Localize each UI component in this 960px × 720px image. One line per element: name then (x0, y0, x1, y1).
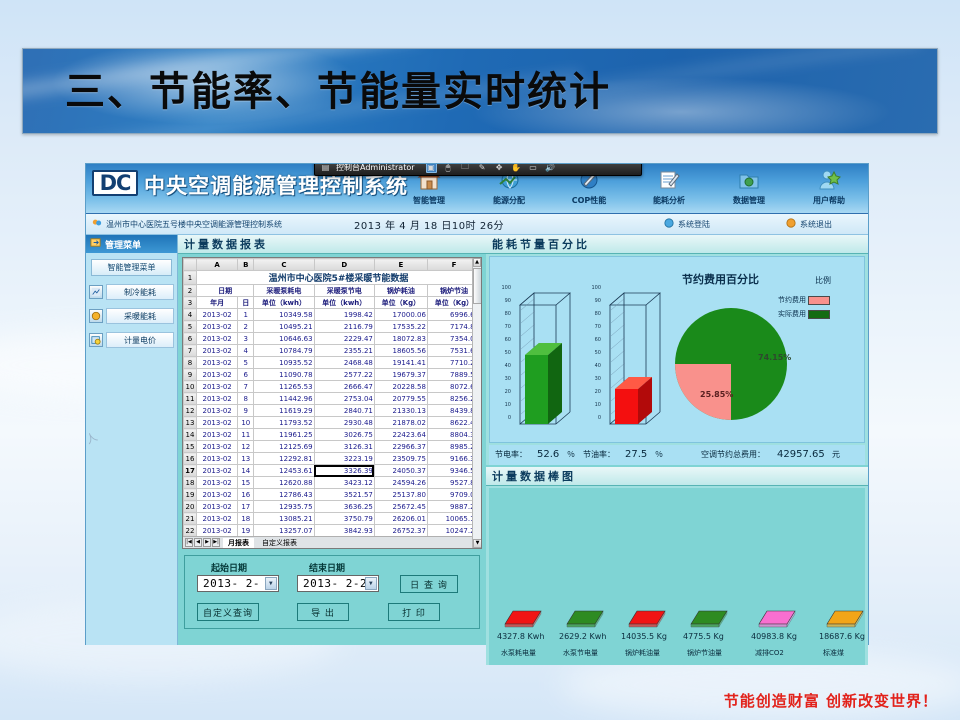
metering-bar-item: 18687.6 Kg标准煤 (819, 606, 869, 632)
cell-pump-consumption[interactable]: 12620.88 (254, 477, 314, 489)
end-date-input[interactable]: 2013- 2-28 ▼ (297, 575, 379, 592)
cell-pump-saving[interactable]: 3750.79 (314, 513, 374, 525)
row-header[interactable]: 7 (184, 345, 197, 357)
nav-label: 能耗分析 (638, 195, 700, 206)
cell-day[interactable]: 13 (238, 453, 254, 465)
next-sheet-icon[interactable]: ▶ (203, 538, 211, 547)
table-row: 162013-021312292.813223.1923509.759166.3… (184, 453, 481, 465)
window-icon[interactable]: ▭ (528, 164, 539, 173)
nav-label: 数据管理 (718, 195, 780, 206)
user-icon (798, 166, 860, 194)
percentage-annotations: 节电率： 52.6 ％ 节油率： 27.5 ％ 空调节约总费用： 42957.6… (489, 445, 865, 465)
cell-year-month[interactable]: 2013-02 (197, 417, 238, 429)
balloon-icon (92, 218, 102, 230)
row-header[interactable]: 22 (184, 525, 197, 537)
metering-bar-label: 水泵节电量 (563, 648, 598, 658)
sheet-nav-arrows[interactable]: |◀ ◀ ▶ ▶| (185, 538, 220, 547)
cell-boiler-oil[interactable]: 18072.83 (374, 333, 427, 345)
metering-bar-value: 40983.8 Kg (751, 632, 797, 641)
cell-year-month[interactable]: 2013-02 (197, 405, 238, 417)
metering-bar-value: 14035.5 Kg (621, 632, 667, 641)
nav-label: 用户帮助 (798, 195, 860, 206)
header-cell: 年月 (197, 297, 238, 309)
row-header[interactable]: 9 (184, 369, 197, 381)
end-date-label: 结束日期 (309, 561, 345, 574)
table-row: 1 温州市中心医院5#楼采暖节能数据 (184, 271, 481, 285)
cell-year-month[interactable]: 2013-02 (197, 321, 238, 333)
row-header[interactable]: 15 (184, 441, 197, 453)
row-header[interactable]: 12 (184, 405, 197, 417)
row-header[interactable]: 1 (184, 271, 197, 285)
sidebar-item-label: 采暖能耗 (106, 308, 174, 324)
status-bar: 温州市中心医院五号楼中央空调能源管理控制系统 2013 年 4 月 18 日10… (86, 214, 868, 235)
metering-bar-label: 水泵耗电量 (501, 648, 536, 658)
sheet-tab-monthly[interactable]: 月报表 (223, 538, 254, 548)
metering-bar-label: 锅炉节油量 (687, 648, 722, 658)
cell-year-month[interactable]: 2013-02 (197, 429, 238, 441)
menu-icon (90, 237, 101, 251)
oil-saving-rate-unit: ％ (655, 449, 663, 460)
site-info: 温州市中心医院五号楼中央空调能源管理控制系统 (86, 218, 282, 230)
energy-percentage-chart: 100 90 80 70 60 50 40 30 20 10 0 (489, 256, 865, 443)
cell-boiler-oil[interactable]: 26752.37 (374, 525, 427, 537)
cell-boiler-oil[interactable]: 24050.37 (374, 465, 427, 477)
app-header: DC 中央空调能源管理控制系统 智能管理 能源分配 COP性能 (86, 164, 868, 214)
table-row: 52013-02210495.212116.7917535.227174.84 (184, 321, 481, 333)
cell-pump-saving[interactable]: 2666.47 (314, 381, 374, 393)
day-query-button[interactable]: 日 查 询 (400, 575, 458, 593)
sheet-title: 温州市中心医院5#楼采暖节能数据 (197, 271, 481, 285)
row-header[interactable]: 16 (184, 453, 197, 465)
cell-year-month[interactable]: 2013-02 (197, 441, 238, 453)
table-row: 192013-021612786.433521.5725137.809709.0… (184, 489, 481, 501)
query-controls: 起始日期 结束日期 2013- 2- 1 ▼ 2013- 2-28 ▼ 日 查 … (184, 555, 480, 629)
bar-slab-icon (819, 606, 869, 628)
cell-pump-consumption[interactable]: 13257.07 (254, 525, 314, 537)
cell-pump-saving[interactable]: 1998.42 (314, 309, 374, 321)
metering-bar-value: 4775.5 Kg (683, 632, 724, 641)
power-saving-rate-value: 52.6 (537, 449, 559, 460)
sidebar-item-price[interactable]: 计量电价 (89, 332, 174, 348)
header-cell: 锅炉耗油 (374, 285, 427, 297)
custom-query-button[interactable]: 自定义查询 (197, 603, 259, 621)
console-toolbar[interactable]: ▤ 控制台Administrator ▣ 🖱 🗀 ✎ ✥ ✋ ▭ 🔊 (314, 164, 642, 176)
chevron-down-icon[interactable]: ▼ (265, 577, 277, 590)
app-body: 管理菜单 智能管理菜单 制冷能耗 采暖能耗 计量电价 (86, 235, 868, 645)
row-header[interactable]: 18 (184, 477, 197, 489)
hand-icon[interactable]: ✋ (511, 164, 522, 173)
cell-boiler-oil[interactable]: 17535.22 (374, 321, 427, 333)
bar-slab-icon (497, 606, 547, 628)
table-row: 92013-02611090.782577.2219679.377889.55 (184, 369, 481, 381)
bar-slab-icon (559, 606, 609, 628)
corner-cell[interactable] (184, 259, 197, 271)
cell-boiler-oil[interactable]: 19679.37 (374, 369, 427, 381)
scrollbar-thumb[interactable] (473, 268, 482, 304)
table-row: 172013-021412453.613326.3924050.379346.5… (184, 465, 481, 477)
cell-day[interactable]: 3 (238, 333, 254, 345)
pie-value-saved: 25.85% (700, 390, 733, 399)
cell-year-month[interactable]: 2013-02 (197, 345, 238, 357)
cell-pump-saving[interactable]: 3026.75 (314, 429, 374, 441)
total-saving-value: 42957.65 (777, 449, 825, 460)
table-row: 2 日期 采暖泵耗电 采暖泵节电 锅炉耗油 锅炉节油 (184, 285, 481, 297)
table-row: 132013-021011793.522930.4821878.028622.4… (184, 417, 481, 429)
first-sheet-icon[interactable]: |◀ (185, 538, 193, 547)
cell-day[interactable]: 12 (238, 441, 254, 453)
cell-pump-consumption[interactable]: 10349.58 (254, 309, 314, 321)
nav-label: COP性能 (558, 195, 620, 206)
cell-pump-consumption[interactable]: 12786.43 (254, 489, 314, 501)
login-label: 系统登陆 (678, 219, 710, 230)
header-cell: 单位（Kg） (374, 297, 427, 309)
row-header[interactable]: 10 (184, 381, 197, 393)
cell-day[interactable]: 17 (238, 501, 254, 513)
screen-icon[interactable]: ▣ (426, 164, 437, 173)
site-name: 温州市中心医院五号楼中央空调能源管理控制系统 (106, 219, 282, 230)
column-header[interactable]: D (314, 259, 374, 271)
cell-day[interactable]: 16 (238, 489, 254, 501)
column-header[interactable]: A (197, 259, 238, 271)
table-row: 222013-021913257.073842.9326752.3710247.… (184, 525, 481, 537)
chevron-down-icon[interactable]: ▼ (365, 577, 377, 590)
nav-item-data-management[interactable]: 数据管理 (718, 166, 780, 206)
power-saving-rate-label: 节电率： (495, 449, 527, 460)
cell-pump-consumption[interactable]: 11442.96 (254, 393, 314, 405)
metering-bar-title: 计量数据棒图 (486, 467, 868, 486)
oil-saving-rate-label: 节油率： (583, 449, 615, 460)
report-data-rows: 42013-02110349.581998.4217000.066996.635… (184, 309, 481, 537)
cell-pump-saving[interactable]: 3842.93 (314, 525, 374, 537)
move-icon[interactable]: ✥ (494, 164, 505, 173)
cell-year-month[interactable]: 2013-02 (197, 501, 238, 513)
slide-title-banner: 三、节能率、节能量实时统计 (22, 48, 938, 134)
monitor-icon: ▤ (320, 164, 331, 173)
cell-day[interactable]: 10 (238, 417, 254, 429)
cell-pump-consumption[interactable]: 12453.61 (254, 465, 314, 477)
cell-year-month[interactable]: 2013-02 (197, 513, 238, 525)
cell-day[interactable]: 8 (238, 393, 254, 405)
cell-boiler-oil[interactable]: 21330.13 (374, 405, 427, 417)
metering-bar-item: 14035.5 Kg锅炉耗油量 (621, 606, 671, 632)
cell-year-month[interactable]: 2013-02 (197, 477, 238, 489)
cell-day[interactable]: 14 (238, 465, 254, 477)
cell-boiler-oil[interactable]: 22423.64 (374, 429, 427, 441)
cell-year-month[interactable]: 2013-02 (197, 357, 238, 369)
row-header[interactable]: 6 (184, 333, 197, 345)
cell-pump-saving[interactable]: 3126.31 (314, 441, 374, 453)
metering-bar-block: 计量数据棒图 4327.8 Kwh水泵耗电量2629.2 Kwh水泵节电量140… (486, 467, 868, 665)
cell-pump-saving[interactable]: 2116.79 (314, 321, 374, 333)
folder-icon[interactable]: 🗀 (460, 164, 471, 173)
pie-chart-title: 节约费用百分比 (682, 271, 759, 287)
cell-day[interactable]: 18 (238, 513, 254, 525)
page-title: 三、节能率、节能量实时统计 (23, 49, 937, 134)
metering-bar-item: 40983.8 Kg减排CO2 (751, 606, 801, 632)
metering-bar-label: 减排CO2 (755, 648, 784, 658)
sidebar-submenu-title[interactable]: 智能管理菜单 (91, 259, 172, 276)
cell-pump-consumption[interactable]: 13085.21 (254, 513, 314, 525)
nav-label: 智能管理 (398, 195, 460, 206)
end-date-value: 2013- 2-28 (303, 577, 374, 590)
cell-pump-saving[interactable]: 2577.22 (314, 369, 374, 381)
energy-percentage-block: 能耗节量百分比 100 90 80 70 60 50 40 30 20 10 (486, 235, 868, 465)
energy-percentage-title: 能耗节量百分比 (486, 235, 868, 254)
cell-pump-consumption[interactable]: 11793.52 (254, 417, 314, 429)
console-title: 控制台Administrator (336, 164, 415, 173)
oil-saving-rate-value: 27.5 (625, 449, 647, 460)
heating-icon (89, 309, 103, 323)
metering-bar-item: 4775.5 Kg锅炉节油量 (683, 606, 733, 632)
cell-boiler-oil[interactable]: 23509.75 (374, 453, 427, 465)
sheet-tab-bar: |◀ ◀ ▶ ▶| 月报表 自定义报表 (183, 536, 472, 548)
cell-day[interactable]: 15 (238, 477, 254, 489)
sidebar-item-label: 计量电价 (106, 332, 174, 348)
system-datetime: 2013 年 4 月 18 日10时 26分 (354, 217, 504, 232)
cell-pump-saving[interactable]: 2930.48 (314, 417, 374, 429)
metering-bar-label: 锅炉耗油量 (625, 648, 660, 658)
logout-icon (786, 218, 796, 230)
column-header[interactable]: C (254, 259, 314, 271)
start-date-label: 起始日期 (211, 561, 247, 574)
table-row: 202013-021712935.753636.2525672.459887.2… (184, 501, 481, 513)
sidebar-header-label: 管理菜单 (105, 238, 141, 251)
table-row: 142013-021111961.253026.7522423.648804.3… (184, 429, 481, 441)
header-cell: 单位（kwh） (314, 297, 374, 309)
sidebar: 管理菜单 智能管理菜单 制冷能耗 采暖能耗 计量电价 (86, 235, 178, 645)
table-row: 82013-02510935.522468.4819141.417710.23 (184, 357, 481, 369)
charts-pane: 能耗节量百分比 100 90 80 70 60 50 40 30 20 10 (486, 235, 868, 645)
table-row: 182013-021512620.883423.1224594.269527.8… (184, 477, 481, 489)
nav-item-user-help[interactable]: 用户帮助 (798, 166, 860, 206)
metering-bar-value: 18687.6 Kg (819, 632, 865, 641)
legend-swatch-saved (808, 296, 830, 305)
slide-tagline: 节能创造财富 创新改变世界！ (724, 690, 938, 711)
cell-pump-saving[interactable]: 2355.21 (314, 345, 374, 357)
row-header[interactable]: 17 (184, 465, 197, 477)
cell-year-month[interactable]: 2013-02 (197, 369, 238, 381)
report-table: A B C D E F 1 温州市中心医院5#楼采暖节能数据 2 日期 (183, 258, 481, 537)
row-header[interactable]: 8 (184, 357, 197, 369)
cell-year-month[interactable]: 2013-02 (197, 333, 238, 345)
cell-pump-consumption[interactable]: 10646.63 (254, 333, 314, 345)
table-row: 212013-021813085.213750.7926206.0110065.… (184, 513, 481, 525)
cell-pump-saving[interactable]: 2229.47 (314, 333, 374, 345)
column-header[interactable]: E (374, 259, 427, 271)
cell-pump-saving[interactable]: 3223.19 (314, 453, 374, 465)
table-row: 62013-02310646.632229.4718072.837354.04 (184, 333, 481, 345)
cooling-icon (89, 285, 103, 299)
cell-pump-saving[interactable]: 3326.39 (314, 465, 374, 477)
cell-day[interactable]: 2 (238, 321, 254, 333)
cell-boiler-oil[interactable]: 19141.41 (374, 357, 427, 369)
nav-label: 能源分配 (478, 195, 540, 206)
bar-slab-icon (751, 606, 801, 628)
cell-pump-consumption[interactable]: 12935.75 (254, 501, 314, 513)
cell-year-month[interactable]: 2013-02 (197, 525, 238, 537)
sidebar-item-label: 制冷能耗 (106, 284, 174, 300)
legend-swatch-actual (808, 310, 830, 319)
metering-bar-item: 2629.2 Kwh水泵节电量 (559, 606, 609, 632)
cell-boiler-oil[interactable]: 26206.01 (374, 513, 427, 525)
cell-pump-consumption[interactable]: 11619.29 (254, 405, 314, 417)
legend-item-saved: 节约费用 (778, 295, 830, 305)
header-cell: 日 (238, 297, 254, 309)
header-cell: 日期 (197, 285, 254, 297)
cell-day[interactable]: 6 (238, 369, 254, 381)
metering-bar-label: 标准煤 (823, 648, 844, 658)
table-row: 122013-02911619.292840.7121330.138439.81 (184, 405, 481, 417)
report-panel-title: 计量数据报表 (178, 235, 486, 254)
cell-pump-saving[interactable]: 2840.71 (314, 405, 374, 417)
login-icon (664, 218, 674, 230)
cell-year-month[interactable]: 2013-02 (197, 393, 238, 405)
cell-pump-consumption[interactable]: 11090.78 (254, 369, 314, 381)
cell-pump-consumption[interactable]: 10784.79 (254, 345, 314, 357)
column-header-row: A B C D E F (184, 259, 481, 271)
sidebar-item-heating[interactable]: 采暖能耗 (89, 308, 174, 324)
cell-year-month[interactable]: 2013-02 (197, 381, 238, 393)
sidebar-header: 管理菜单 (86, 235, 177, 253)
cell-day[interactable]: 5 (238, 357, 254, 369)
cell-year-month[interactable]: 2013-02 (197, 309, 238, 321)
cell-day[interactable]: 9 (238, 405, 254, 417)
cell-day[interactable]: 19 (238, 525, 254, 537)
cell-boiler-oil[interactable]: 18605.56 (374, 345, 427, 357)
table-row: 102013-02711265.532666.4720228.588072.62 (184, 381, 481, 393)
row-header[interactable]: 21 (184, 513, 197, 525)
speaker-icon[interactable]: 🔊 (545, 164, 556, 173)
total-saving-unit: 元 (832, 449, 840, 460)
cell-pump-consumption[interactable]: 12125.69 (254, 441, 314, 453)
cell-pump-consumption[interactable]: 10935.52 (254, 357, 314, 369)
logout-label: 系统退出 (800, 219, 832, 230)
column-header[interactable]: B (238, 259, 254, 271)
pie-chart-graphic (672, 305, 790, 423)
sidebar-item-cooling[interactable]: 制冷能耗 (89, 284, 174, 300)
metering-bar-item: 4327.8 Kwh水泵耗电量 (497, 606, 547, 632)
cell-boiler-oil[interactable]: 25672.45 (374, 501, 427, 513)
row-header[interactable]: 20 (184, 501, 197, 513)
cell-boiler-oil[interactable]: 17000.06 (374, 309, 427, 321)
scroll-up-icon[interactable]: ▲ (473, 258, 481, 267)
cell-boiler-oil[interactable]: 24594.26 (374, 477, 427, 489)
cell-pump-saving[interactable]: 2753.04 (314, 393, 374, 405)
sheet-tab-custom[interactable]: 自定义报表 (257, 538, 302, 548)
cell-pump-consumption[interactable]: 12292.81 (254, 453, 314, 465)
metering-bar-value: 2629.2 Kwh (559, 632, 606, 641)
bar-slab-icon (683, 606, 733, 628)
row-header[interactable]: 4 (184, 309, 197, 321)
export-button[interactable]: 导 出 (297, 603, 349, 621)
cell-boiler-oil[interactable]: 21878.02 (374, 417, 427, 429)
cell-pump-saving[interactable]: 3521.57 (314, 489, 374, 501)
application-window: DC 中央空调能源管理控制系统 智能管理 能源分配 COP性能 (85, 163, 869, 645)
cell-boiler-oil[interactable]: 20228.58 (374, 381, 427, 393)
table-row: 42013-02110349.581998.4217000.066996.63 (184, 309, 481, 321)
cell-pump-consumption[interactable]: 11961.25 (254, 429, 314, 441)
cell-pump-consumption[interactable]: 10495.21 (254, 321, 314, 333)
row-header[interactable]: 11 (184, 393, 197, 405)
nav-item-consumption-analysis[interactable]: 能耗分析 (638, 166, 700, 206)
row-header[interactable]: 3 (184, 297, 197, 309)
metering-bar-value: 4327.8 Kwh (497, 632, 544, 641)
price-icon (89, 333, 103, 347)
report-pane: 计量数据报表 A B C D E F 1 温州市中心医院5#楼采暖节能数据 (178, 235, 486, 645)
cell-year-month[interactable]: 2013-02 (197, 465, 238, 477)
cell-day[interactable]: 11 (238, 429, 254, 441)
pen-icon[interactable]: ✎ (477, 164, 488, 173)
total-saving-label: 空调节约总费用： (701, 449, 765, 460)
legend-title: 比例 (815, 275, 831, 286)
spreadsheet[interactable]: A B C D E F 1 温州市中心医院5#楼采暖节能数据 2 日期 (182, 257, 482, 549)
last-sheet-icon[interactable]: ▶| (212, 538, 220, 547)
prev-sheet-icon[interactable]: ◀ (194, 538, 202, 547)
logout-link[interactable]: 系统退出 (786, 218, 832, 230)
row-header[interactable]: 14 (184, 429, 197, 441)
dc-logo: DC (92, 170, 138, 196)
cell-pump-saving[interactable]: 2468.48 (314, 357, 374, 369)
legend-label: 节约费用 (778, 295, 806, 305)
table-row: 72013-02410784.792355.2118605.567531.62 (184, 345, 481, 357)
cell-pump-saving[interactable]: 3636.25 (314, 501, 374, 513)
row-header[interactable]: 2 (184, 285, 197, 297)
table-row: 152013-021212125.693126.3122966.378985.2… (184, 441, 481, 453)
vertical-scrollbar[interactable]: ▲ ▼ (472, 258, 481, 548)
header-cell: 采暖泵节电 (314, 285, 374, 297)
row-header[interactable]: 19 (184, 489, 197, 501)
cell-day[interactable]: 1 (238, 309, 254, 321)
print-button[interactable]: 打 印 (388, 603, 440, 621)
scroll-down-icon[interactable]: ▼ (473, 539, 482, 548)
cell-boiler-oil[interactable]: 22966.37 (374, 441, 427, 453)
metering-bar-chart: 4327.8 Kwh水泵耗电量2629.2 Kwh水泵节电量14035.5 Kg… (489, 488, 865, 665)
cell-boiler-oil[interactable]: 25137.80 (374, 489, 427, 501)
report-icon (638, 166, 700, 194)
start-date-input[interactable]: 2013- 2- 1 ▼ (197, 575, 279, 592)
power-saving-rate-unit: ％ (567, 449, 575, 460)
table-row: 3 年月 日 单位（kwh） 单位（kwh） 单位（Kg） 单位（Kg） (184, 297, 481, 309)
cell-pump-consumption[interactable]: 11265.53 (254, 381, 314, 393)
header-cell: 单位（kwh） (254, 297, 314, 309)
pie-value-actual: 74.15% (758, 353, 791, 362)
bar2-graphic (602, 279, 672, 427)
cell-day[interactable]: 7 (238, 381, 254, 393)
cell-pump-saving[interactable]: 3423.12 (314, 477, 374, 489)
cell-boiler-oil[interactable]: 20779.55 (374, 393, 427, 405)
bar-slab-icon (621, 606, 671, 628)
bar1-graphic (512, 279, 582, 427)
console-icon-group: ▣ 🖱 🗀 ✎ ✥ ✋ ▭ 🔊 (426, 164, 556, 173)
header-cell: 采暖泵耗电 (254, 285, 314, 297)
cell-year-month[interactable]: 2013-02 (197, 489, 238, 501)
login-link[interactable]: 系统登陆 (664, 218, 710, 230)
folder-globe-icon (718, 166, 780, 194)
cell-day[interactable]: 4 (238, 345, 254, 357)
start-date-value: 2013- 2- 1 (203, 577, 274, 590)
row-header[interactable]: 13 (184, 417, 197, 429)
row-header[interactable]: 5 (184, 321, 197, 333)
mouse-icon[interactable]: 🖱 (443, 164, 454, 173)
table-row: 112013-02811442.962753.0420779.558256.28 (184, 393, 481, 405)
cell-year-month[interactable]: 2013-02 (197, 453, 238, 465)
